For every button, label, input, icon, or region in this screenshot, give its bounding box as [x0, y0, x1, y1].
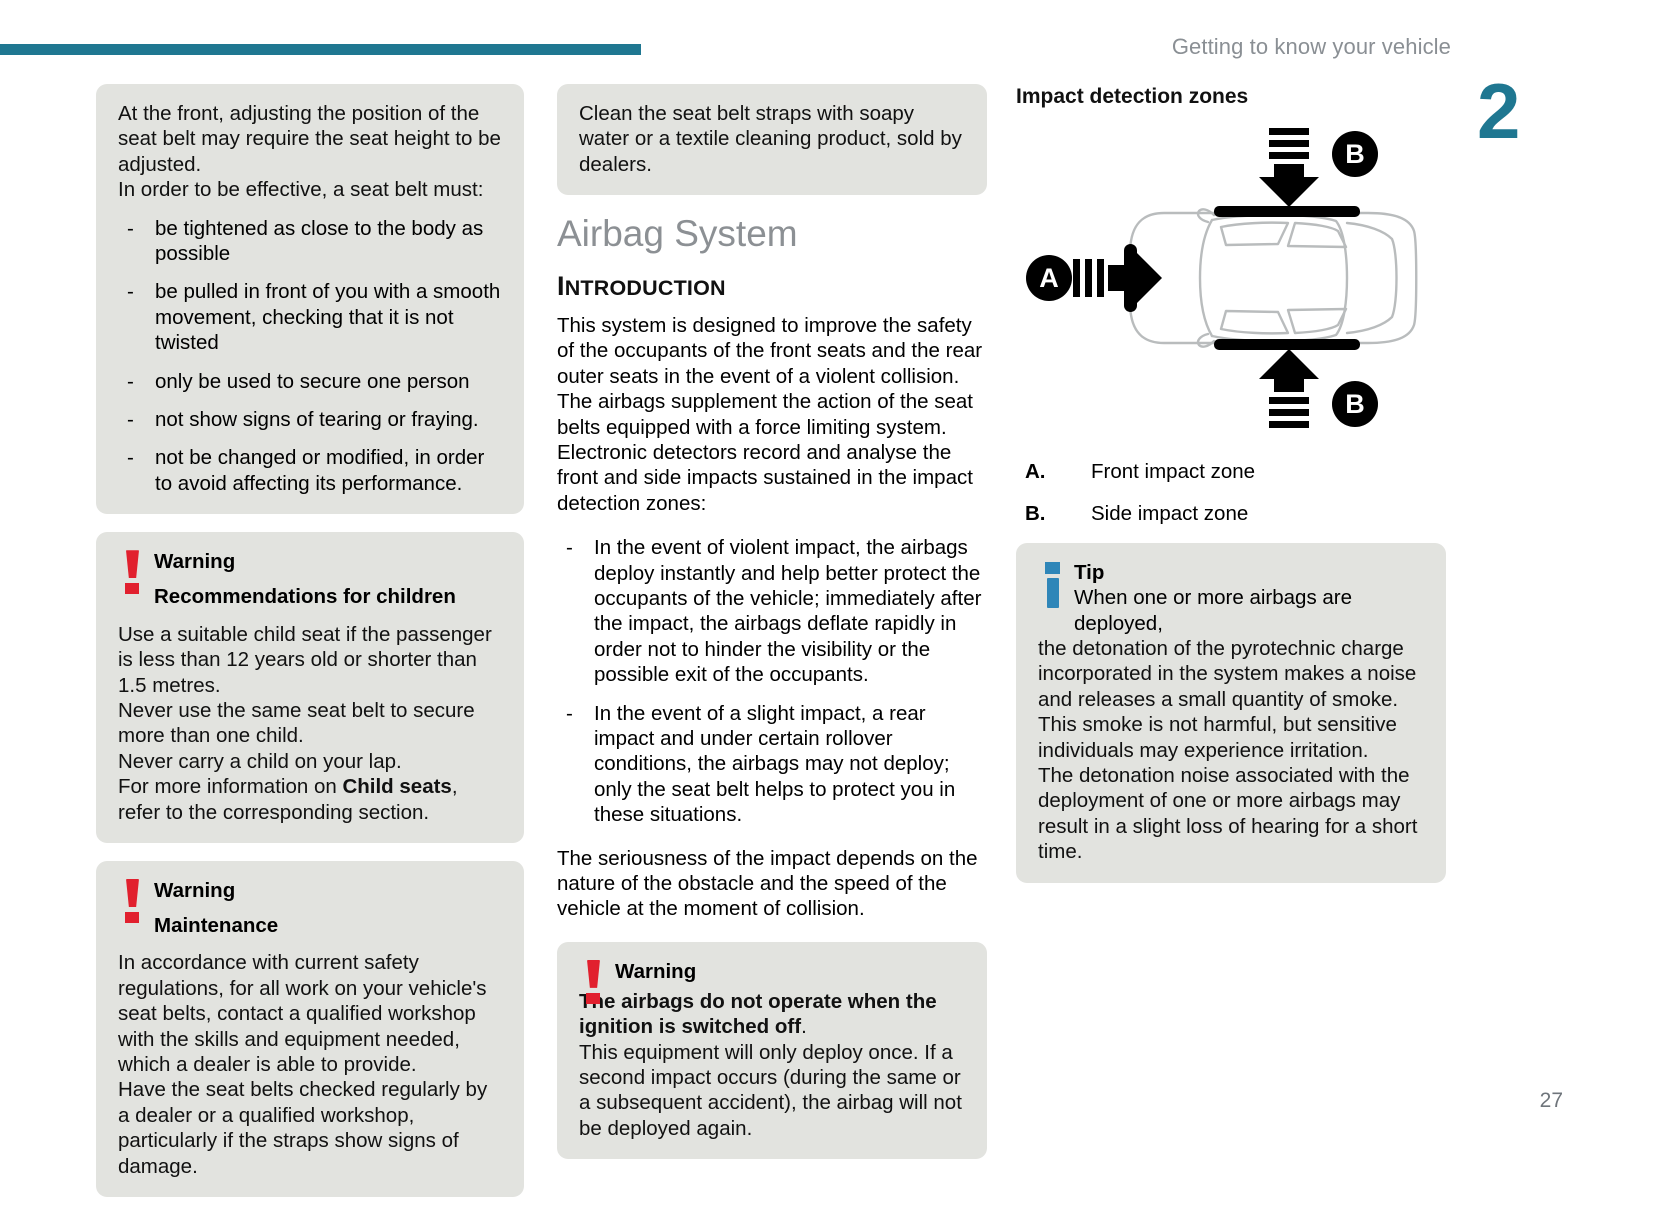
legend-row: A. Front impact zone: [1016, 459, 1446, 484]
list-item-text: In the event of a slight impact, a rear …: [594, 702, 955, 827]
clean-straps-text: Clean the seat belt straps with soapy wa…: [579, 101, 965, 177]
list-item-text: only be used to secure one person: [155, 370, 470, 393]
manual-page: Getting to know your vehicle 2 27 At the…: [0, 0, 1653, 1165]
page-number: 27: [1540, 1089, 1563, 1113]
introduction-heading: INTRODUCTION: [557, 271, 987, 301]
seatbelt-info-box: At the front, adjusting the position of …: [96, 84, 524, 514]
warning-subtitle: Maintenance: [154, 913, 502, 938]
legend-row: B. Side impact zone: [1016, 501, 1446, 526]
list-item-text: not show signs of tearing or fraying.: [155, 408, 479, 431]
tip-body: the detonation of the pyrotechnic charge…: [1038, 636, 1424, 865]
page-title: Airbag System: [557, 213, 987, 254]
heading-smallcaps: NTRODUCTION: [565, 276, 726, 300]
dash-marker: -: [566, 701, 573, 726]
warning-exclamation-icon: [125, 879, 140, 925]
warning-children-header: Warning Recommendations for children: [118, 549, 502, 609]
clean-straps-box: Clean the seat belt straps with soapy wa…: [557, 84, 987, 195]
warning-ignition-header: Warning: [579, 959, 965, 985]
warning-children-box: Warning Recommendations for children Use…: [96, 532, 524, 843]
list-item: -In the event of a slight impact, a rear…: [557, 701, 987, 828]
warning-subtitle: Recommendations for children: [154, 584, 502, 609]
warning-exclamation-icon: [125, 550, 140, 596]
column-one: At the front, adjusting the position of …: [96, 84, 524, 1215]
impact-zones-legend: A. Front impact zone B. Side impact zone: [1016, 459, 1446, 526]
running-head: Getting to know your vehicle: [1172, 34, 1451, 60]
info-icon: [1045, 562, 1060, 608]
warning-title: Warning: [615, 959, 965, 984]
warning-title: Warning: [154, 549, 502, 574]
tip-box: Tip When one or more airbags are deploye…: [1016, 543, 1446, 882]
seatbelt-paragraph-1: At the front, adjusting the position of …: [118, 101, 502, 177]
warning-children-body: Use a suitable child seat if the passeng…: [118, 622, 502, 825]
label-b-top-text: B: [1345, 139, 1365, 169]
list-item: -only be used to secure one person: [118, 369, 502, 394]
list-item-text: be pulled in front of you with a smooth …: [155, 280, 500, 354]
dash-marker: -: [127, 445, 134, 470]
airbag-behaviour-list: -In the event of violent impact, the air…: [557, 535, 987, 827]
list-item: -not show signs of tearing or fraying.: [118, 407, 502, 432]
ignition-bold-tail: .: [801, 1015, 807, 1038]
warning-maintenance-box: Warning Maintenance In accordance with c…: [96, 861, 524, 1197]
header-rule: [0, 44, 641, 55]
legend-key: A.: [1016, 459, 1091, 484]
seatbelt-paragraph-2: In order to be effective, a seat belt mu…: [118, 177, 502, 202]
column-two: Clean the seat belt straps with soapy wa…: [557, 84, 987, 1177]
list-item: -not be changed or modified, in order to…: [118, 445, 502, 496]
label-b-bottom-text: B: [1345, 389, 1365, 419]
dash-marker: -: [127, 279, 134, 304]
impact-seriousness-paragraph: The seriousness of the impact depends on…: [557, 846, 987, 922]
list-item-text: not be changed or modified, in order to …: [155, 446, 484, 494]
label-a-text: A: [1039, 263, 1059, 293]
heading-initial: I: [557, 271, 565, 301]
warning-maintenance-body: In accordance with current safety regula…: [118, 950, 502, 1179]
dash-marker: -: [127, 407, 134, 432]
warning-ignition-box: Warning The airbags do not operate when …: [557, 942, 987, 1159]
child-seats-reference: Child seats: [342, 775, 451, 798]
list-item-text: be tightened as close to the body as pos…: [155, 217, 483, 265]
legend-value: Front impact zone: [1091, 459, 1446, 484]
warning-body-part-1: Use a suitable child seat if the passeng…: [118, 623, 492, 798]
chapter-number: 2: [1477, 72, 1520, 150]
dash-marker: -: [566, 535, 573, 560]
impact-zones-heading: Impact detection zones: [1016, 84, 1446, 109]
warning-maintenance-header: Warning Maintenance: [118, 878, 502, 938]
dash-marker: -: [127, 216, 134, 241]
dash-marker: -: [127, 369, 134, 394]
legend-value: Side impact zone: [1091, 501, 1446, 526]
list-item-text: In the event of violent impact, the airb…: [594, 536, 981, 686]
tip-first-line: When one or more airbags are deployed,: [1074, 585, 1424, 636]
column-three: Impact detection zones: [1016, 84, 1446, 901]
warning-ignition-body: This equipment will only deploy once. If…: [579, 1040, 965, 1142]
intro-paragraph: This system is designed to improve the s…: [557, 313, 987, 516]
tip-title: Tip: [1074, 560, 1424, 585]
legend-key: B.: [1016, 501, 1091, 526]
warning-exclamation-icon: [586, 960, 601, 1006]
ignition-bold-text: The airbags do not operate when the igni…: [579, 990, 937, 1038]
impact-detection-zones-diagram: A B B: [1016, 119, 1446, 437]
list-item: -be pulled in front of you with a smooth…: [118, 279, 502, 355]
seatbelt-requirements-list: -be tightened as close to the body as po…: [118, 216, 502, 497]
list-item: -be tightened as close to the body as po…: [118, 216, 502, 267]
list-item: -In the event of violent impact, the air…: [557, 535, 987, 687]
warning-ignition-bold-line: The airbags do not operate when the igni…: [579, 989, 965, 1040]
warning-title: Warning: [154, 878, 502, 903]
tip-header: Tip When one or more airbags are deploye…: [1038, 560, 1424, 636]
